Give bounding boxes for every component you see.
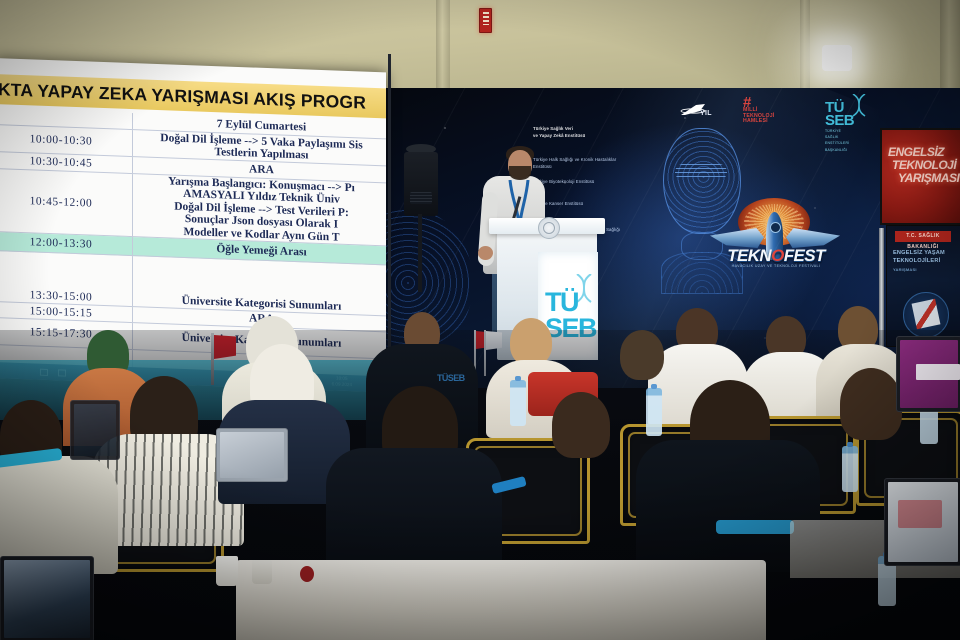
logo-tuseb-backdrop: TÜ SEB TÜRKİYE SAĞLIK ENSTİTÜLERİ BAŞKAN… xyxy=(825,102,879,152)
backdrop-institute-heading: Türkiye Sağlık Verive Yapay Zekâ Enstitü… xyxy=(533,126,625,139)
row-text: Yarışma Başlangıcı: Konuşmacı --> PıAMAS… xyxy=(133,174,386,245)
red-object-on-table xyxy=(300,566,314,582)
speaker-hand xyxy=(478,246,493,260)
laptop-screen[interactable] xyxy=(888,482,958,562)
podium-logo-line1: TÜ xyxy=(545,290,578,315)
led-banner-engelsiz: ENGELSİZ TEKNOLOJİ YARIŞMASI xyxy=(880,128,960,225)
logo-milli-teknoloji-hamlesi: # MİLLİ TEKNOLOJİ HAMLESİ xyxy=(743,98,791,125)
laptop-silver-center[interactable] xyxy=(216,428,288,482)
banner-chip: T.C. SAĞLIK BAKANLIĞI xyxy=(895,231,951,242)
laptop-foreground-left[interactable] xyxy=(0,556,94,640)
hashtag-line-2: HAMLESİ xyxy=(743,119,791,125)
logo-7yil-label: YIL xyxy=(700,110,712,117)
backdrop-institute-item-1: Türkiye Biyoteknoloji Enstitüsü xyxy=(533,179,623,186)
logo-tuseb-sub-0: TÜRKİYE xyxy=(825,129,879,133)
speaker-beard xyxy=(509,166,531,180)
backdrop-institute-item-2: Türkiye Kanser Enstitüsü xyxy=(533,201,623,208)
paper-cup xyxy=(252,560,272,584)
laptop-screen[interactable] xyxy=(74,404,116,456)
laptop-screen[interactable] xyxy=(220,432,284,478)
teknofest-wing-left-icon xyxy=(710,228,764,248)
hashtag-icon: # xyxy=(743,98,791,108)
podium-emblem-icon xyxy=(538,217,560,239)
laptop-screen-dialog xyxy=(916,364,960,380)
teknofest-subtitle: HAVACILIK UZAY VE TEKNOLOJİ FESTİVALİ xyxy=(718,264,834,268)
audience-head-mid-right xyxy=(620,330,664,380)
banner-heading-0: ENGELSİZ YAŞAM xyxy=(893,250,945,257)
row-time: 10:45-12:00 xyxy=(0,169,133,236)
audience-shoulders-center-dark xyxy=(326,448,502,576)
teknofest-rocket-icon xyxy=(766,212,783,260)
pa-speaker xyxy=(404,152,438,216)
logo-tuseb-sub-2: ENSTİTÜLERİ xyxy=(825,141,879,145)
audience-head-far-right xyxy=(840,368,902,440)
water-bottle xyxy=(510,380,526,426)
spotlight-fixture-icon xyxy=(822,45,852,71)
logo-tuseb-sub-1: SAĞLIK xyxy=(825,135,879,139)
teknofest-burst-icon xyxy=(738,198,810,246)
banquet-table-front xyxy=(236,560,766,640)
banner-heading-2: YARIŞMASI xyxy=(893,266,917,273)
logo-tuseb-line1: TÜ xyxy=(825,102,879,114)
dna-helix-icon xyxy=(851,94,867,128)
led-line-2: YARIŞMASI xyxy=(882,172,960,185)
exit-fire-sign-icon xyxy=(479,8,492,33)
pa-speaker-stand xyxy=(418,214,422,292)
banner-heading-1: TEKNOLOJİLERİ xyxy=(893,258,940,265)
laptop-screen[interactable] xyxy=(900,340,958,408)
laptop-screen[interactable] xyxy=(4,560,90,638)
hashtag-line-1: TEKNOLOJİ xyxy=(743,114,791,120)
laptop-right-white[interactable] xyxy=(884,478,960,566)
laptop-right-purple[interactable] xyxy=(896,336,960,412)
row-time: 10:00-10:30 xyxy=(0,125,133,156)
teknofest-wing-right-icon xyxy=(786,228,840,248)
teknofest-wordmark: TEKNOFEST xyxy=(718,246,834,266)
audience-lanyard-right xyxy=(716,520,794,534)
conference-hall-photo: Türkiye Sağlık Verive Yapay Zekâ Enstitü… xyxy=(0,0,960,640)
audience-head-mid-a xyxy=(552,392,610,458)
logo-tuseb-sub-3: BAŞKANLIĞI xyxy=(825,148,879,152)
water-bottle xyxy=(646,388,662,436)
logo-7yil: YIL xyxy=(680,100,724,124)
laptop-screen-content xyxy=(898,500,942,528)
led-line-0: ENGELSİZ xyxy=(882,130,960,159)
shirt-logo-tuseb-dark: TÜSEB xyxy=(437,374,465,382)
water-bottle xyxy=(842,446,858,492)
hashtag-line-0: MİLLİ xyxy=(743,108,791,114)
rocket-icon xyxy=(680,104,706,116)
laptop-back-left[interactable] xyxy=(70,400,120,460)
paper-cup xyxy=(216,556,238,586)
right-rollup-banner: T.C. SAĞLIK BAKANLIĞI ENGELSİZ YAŞAM TEK… xyxy=(886,225,960,347)
row-text: Üniversite Kategorisi Sunumları xyxy=(133,256,386,315)
ai-robot-head-icon xyxy=(655,128,747,278)
backdrop-institute-item-0: Türkiye Halk Sağlığı ve Kronik Hastalıkl… xyxy=(533,157,623,170)
logo-teknofest: TEKNOFEST HAVACILIK UZAY VE TEKNOLOJİ FE… xyxy=(710,198,840,276)
row-time: 13:30-15:00 xyxy=(0,251,133,306)
audience-head-blonde xyxy=(510,318,552,366)
logo-tuseb-line2: SEB xyxy=(825,114,879,127)
